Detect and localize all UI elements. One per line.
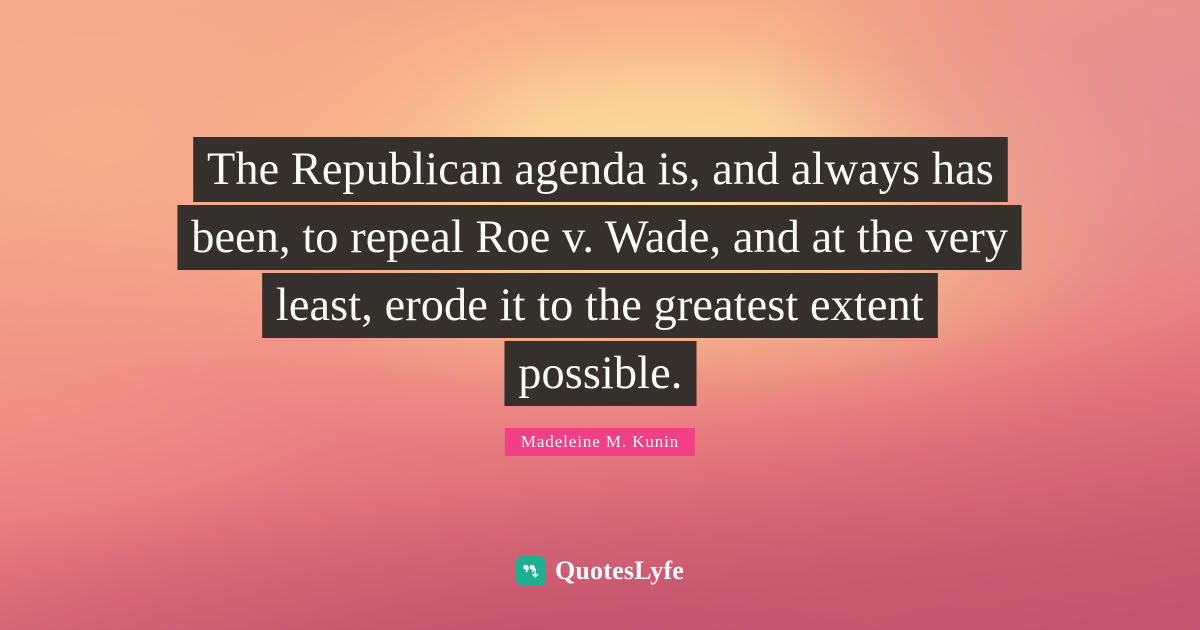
- quote-line: possible.: [504, 341, 696, 406]
- brand-name: QuotesLyfe: [555, 556, 684, 586]
- quote-line: been, to repeal Roe v. Wade, and at the …: [178, 205, 1022, 270]
- brand-logo: QuotesLyfe: [516, 556, 684, 586]
- quote-line: The Republican agenda is, and always has: [193, 137, 1007, 202]
- author-badge: Madeleine M. Kunin: [505, 428, 695, 456]
- quote-mark-icon: [516, 556, 546, 586]
- quote-text-block: The Republican agenda is, and always has…: [0, 137, 1200, 406]
- quote-card: The Republican agenda is, and always has…: [0, 0, 1200, 630]
- quote-line: least, erode it to the greatest extent: [262, 273, 937, 338]
